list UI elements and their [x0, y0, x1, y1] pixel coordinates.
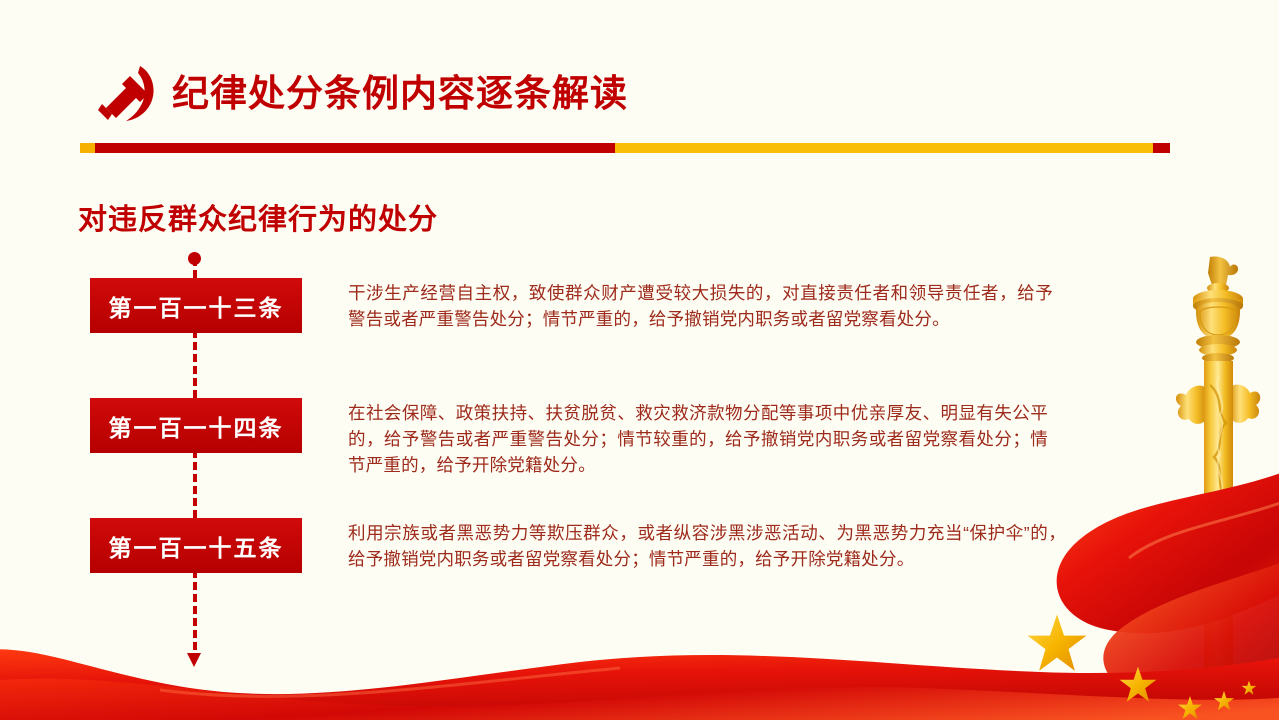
divider-segment-yellow-main	[615, 143, 1153, 153]
article-number-badge[interactable]: 第一百一十五条	[90, 518, 302, 573]
slide-canvas: 纪律处分条例内容逐条解读 对违反群众纪律行为的处分 第一百一十三条 干涉生产经营…	[0, 0, 1279, 720]
section-title: 对违反群众纪律行为的处分	[78, 196, 438, 238]
hammer-and-sickle-icon	[96, 62, 160, 126]
page-title: 纪律处分条例内容逐条解读	[172, 70, 628, 118]
article-number-badge[interactable]: 第一百一十三条	[90, 278, 302, 333]
article-number-badge[interactable]: 第一百一十四条	[90, 398, 302, 453]
article-text: 在社会保障、政策扶持、扶贫脱贫、救灾救济款物分配等事项中优亲厚友、明显有失公平的…	[348, 400, 1048, 478]
article-text: 干涉生产经营自主权，致使群众财产遭受较大损失的，对直接责任者和领导责任者，给予警…	[348, 280, 1053, 332]
divider-segment-red-right	[1153, 143, 1170, 153]
divider-segment-yellow-left	[80, 143, 95, 153]
header-divider	[80, 143, 1170, 153]
divider-segment-red-main	[95, 143, 615, 153]
slide-header: 纪律处分条例内容逐条解读	[0, 0, 1279, 170]
article-text: 利用宗族或者黑恶势力等欺压群众，或者纵容涉黑涉恶活动、为黑恶势力充当“保护伞”的…	[348, 520, 1066, 572]
